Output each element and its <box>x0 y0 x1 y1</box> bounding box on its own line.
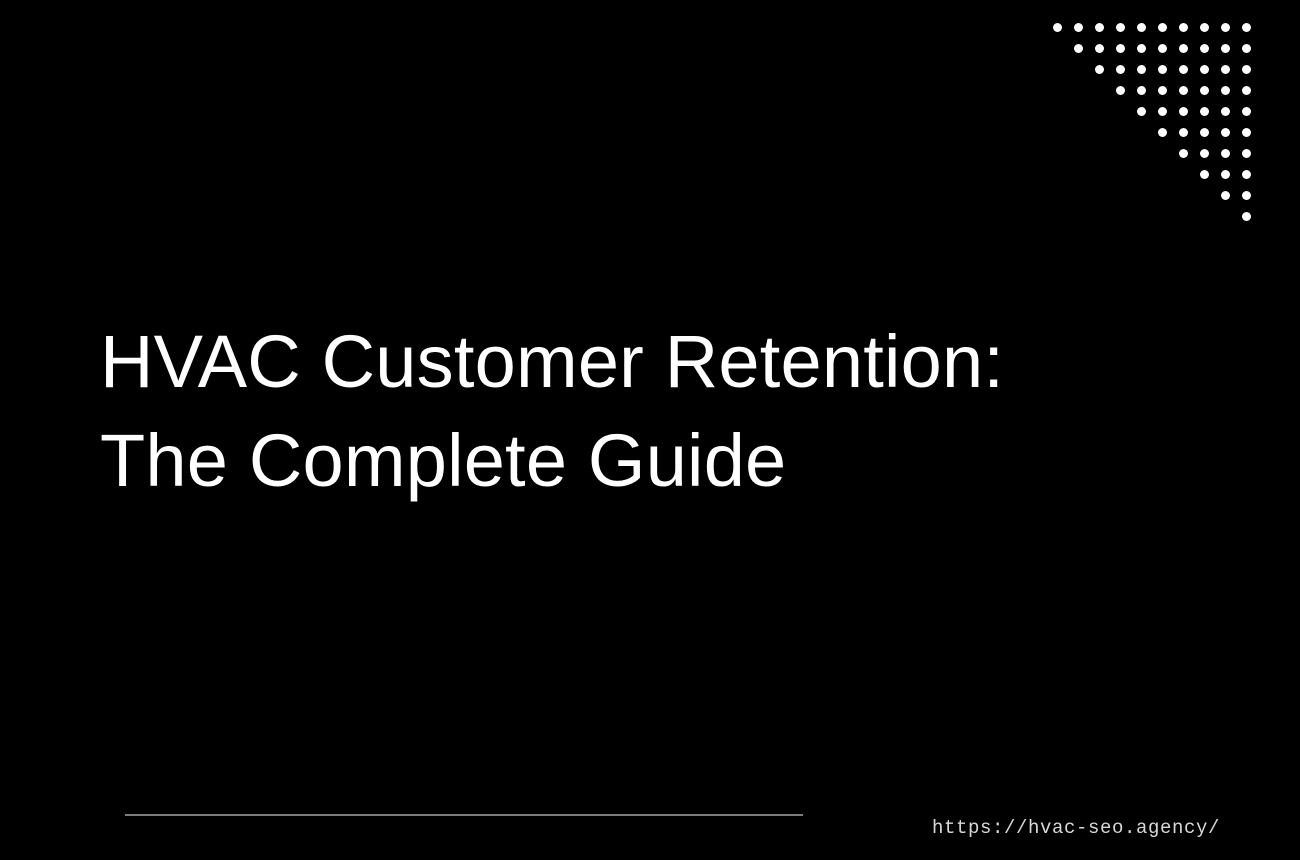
grid-dot <box>1242 128 1251 137</box>
site-url-label: https://hvac-seo.agency/ <box>932 817 1220 839</box>
grid-dot <box>1116 44 1125 53</box>
grid-dot <box>1179 149 1188 158</box>
grid-dot <box>1116 65 1125 74</box>
grid-dot <box>1221 128 1230 137</box>
grid-dot <box>1074 23 1083 32</box>
grid-dot <box>1200 44 1209 53</box>
grid-dot <box>1242 149 1251 158</box>
grid-dot <box>1242 191 1251 200</box>
grid-dot <box>1221 170 1230 179</box>
grid-dot <box>1179 128 1188 137</box>
grid-dot <box>1242 212 1251 221</box>
grid-dot <box>1179 86 1188 95</box>
grid-dot <box>1158 86 1167 95</box>
grid-dot <box>1200 65 1209 74</box>
grid-dot <box>1095 65 1104 74</box>
grid-dot <box>1158 23 1167 32</box>
dot-grid-icon <box>1053 23 1263 233</box>
grid-dot <box>1200 149 1209 158</box>
grid-dot <box>1179 107 1188 116</box>
grid-dot <box>1242 44 1251 53</box>
grid-dot <box>1095 23 1104 32</box>
grid-dot <box>1200 128 1209 137</box>
grid-dot <box>1221 65 1230 74</box>
grid-dot <box>1137 44 1146 53</box>
grid-dot <box>1221 149 1230 158</box>
grid-dot <box>1137 65 1146 74</box>
grid-dot <box>1221 191 1230 200</box>
grid-dot <box>1200 170 1209 179</box>
title-slide: HVAC Customer Retention: The Complete Gu… <box>0 0 1300 860</box>
grid-dot <box>1221 107 1230 116</box>
grid-dot <box>1158 44 1167 53</box>
grid-dot <box>1116 23 1125 32</box>
grid-dot <box>1200 107 1209 116</box>
page-title-line-2: The Complete Guide <box>100 411 1100 510</box>
grid-dot <box>1242 86 1251 95</box>
grid-dot <box>1074 44 1083 53</box>
grid-dot <box>1158 107 1167 116</box>
grid-dot <box>1179 65 1188 74</box>
grid-dot <box>1221 44 1230 53</box>
grid-dot <box>1116 86 1125 95</box>
grid-dot <box>1179 44 1188 53</box>
grid-dot <box>1137 23 1146 32</box>
grid-dot <box>1095 44 1104 53</box>
grid-dot <box>1200 23 1209 32</box>
grid-dot <box>1221 86 1230 95</box>
page-title: HVAC Customer Retention: The Complete Gu… <box>100 312 1100 510</box>
grid-dot <box>1242 23 1251 32</box>
grid-dot <box>1221 23 1230 32</box>
grid-dot <box>1158 128 1167 137</box>
page-title-line-1: HVAC Customer Retention: <box>100 312 1100 411</box>
grid-dot <box>1242 107 1251 116</box>
grid-dot <box>1242 65 1251 74</box>
footer-divider <box>125 814 803 816</box>
grid-dot <box>1200 86 1209 95</box>
grid-dot <box>1137 86 1146 95</box>
grid-dot <box>1179 23 1188 32</box>
grid-dot <box>1053 23 1062 32</box>
grid-dot <box>1158 65 1167 74</box>
grid-dot <box>1137 107 1146 116</box>
grid-dot <box>1242 170 1251 179</box>
